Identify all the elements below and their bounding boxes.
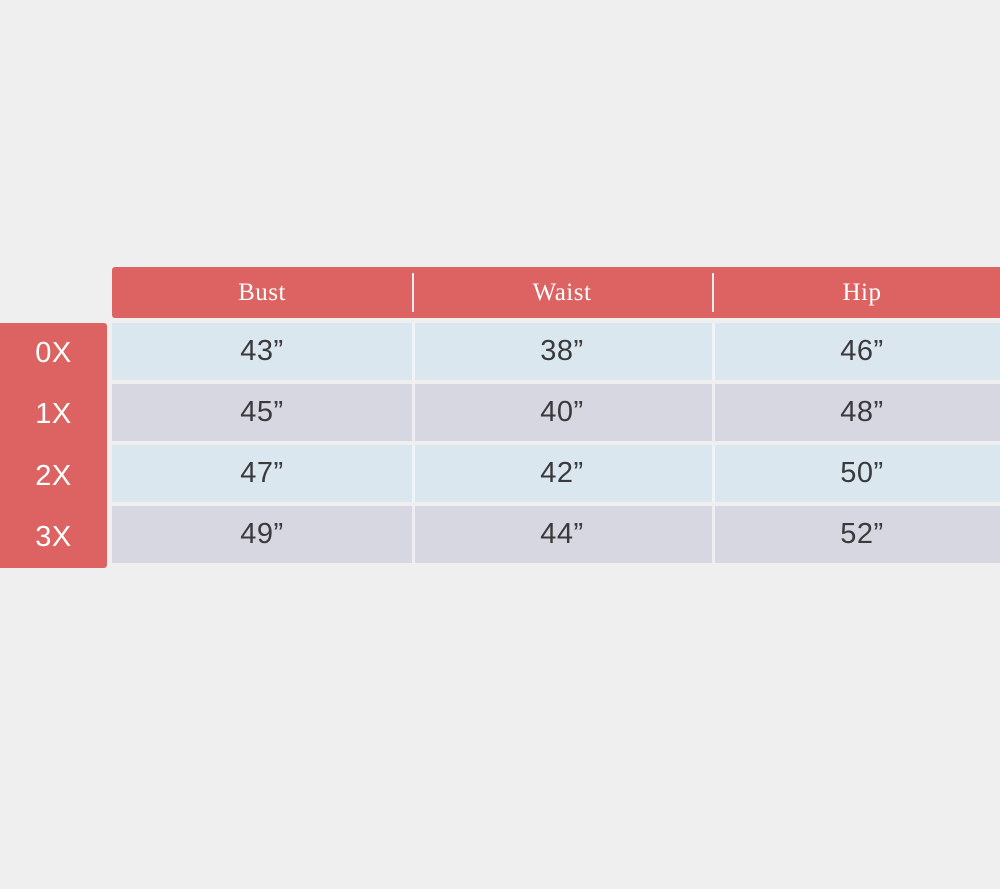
cell-0x-hip: 46”	[712, 323, 1000, 380]
cell-1x-hip-value: 48”	[840, 398, 883, 427]
cell-2x-waist: 42”	[412, 445, 712, 502]
cell-2x-bust: 47”	[112, 445, 412, 502]
cell-3x-hip: 52”	[712, 506, 1000, 563]
cell-3x-waist: 44”	[412, 506, 712, 563]
cell-3x-bust: 49”	[112, 506, 412, 563]
size-label-0x-text: 0X	[35, 339, 71, 368]
cell-1x-waist: 40”	[412, 384, 712, 441]
column-header-hip: Hip	[712, 267, 1000, 318]
cell-2x-bust-value: 47”	[240, 459, 283, 488]
column-header-waist-label: Waist	[533, 280, 592, 305]
cell-2x-hip-value: 50”	[840, 459, 883, 488]
cell-1x-bust-value: 45”	[240, 398, 283, 427]
cell-0x-waist: 38”	[412, 323, 712, 380]
size-label-0x: 0X	[0, 323, 107, 384]
size-label-column: 0X 1X 2X 3X	[0, 323, 107, 568]
cell-1x-hip: 48”	[712, 384, 1000, 441]
table-row: 45” 40” 48”	[112, 384, 1000, 441]
cell-1x-waist-value: 40”	[540, 398, 583, 427]
cell-0x-waist-value: 38”	[540, 337, 583, 366]
table-row: 43” 38” 46”	[112, 323, 1000, 380]
cell-3x-hip-value: 52”	[840, 520, 883, 549]
cell-3x-bust-value: 49”	[240, 520, 283, 549]
table-row: 47” 42” 50”	[112, 445, 1000, 502]
cell-0x-bust-value: 43”	[240, 337, 283, 366]
size-label-2x-text: 2X	[35, 462, 71, 491]
size-label-1x-text: 1X	[35, 400, 71, 429]
size-label-3x-text: 3X	[35, 523, 71, 552]
column-header-waist: Waist	[412, 267, 712, 318]
size-label-2x: 2X	[0, 446, 107, 507]
cell-0x-bust: 43”	[112, 323, 412, 380]
cell-1x-bust: 45”	[112, 384, 412, 441]
table-row: 49” 44” 52”	[112, 506, 1000, 563]
column-header-hip-label: Hip	[843, 280, 882, 305]
cell-0x-hip-value: 46”	[840, 337, 883, 366]
cell-2x-waist-value: 42”	[540, 459, 583, 488]
size-label-3x: 3X	[0, 507, 107, 568]
column-header-bust: Bust	[112, 267, 412, 318]
cell-3x-waist-value: 44”	[540, 520, 583, 549]
size-label-1x: 1X	[0, 384, 107, 445]
column-header-bust-label: Bust	[238, 280, 286, 305]
table-body: 43” 38” 46” 45” 40” 48” 47”	[112, 323, 1000, 567]
table-header-row: Bust Waist Hip	[112, 267, 1000, 318]
cell-2x-hip: 50”	[712, 445, 1000, 502]
